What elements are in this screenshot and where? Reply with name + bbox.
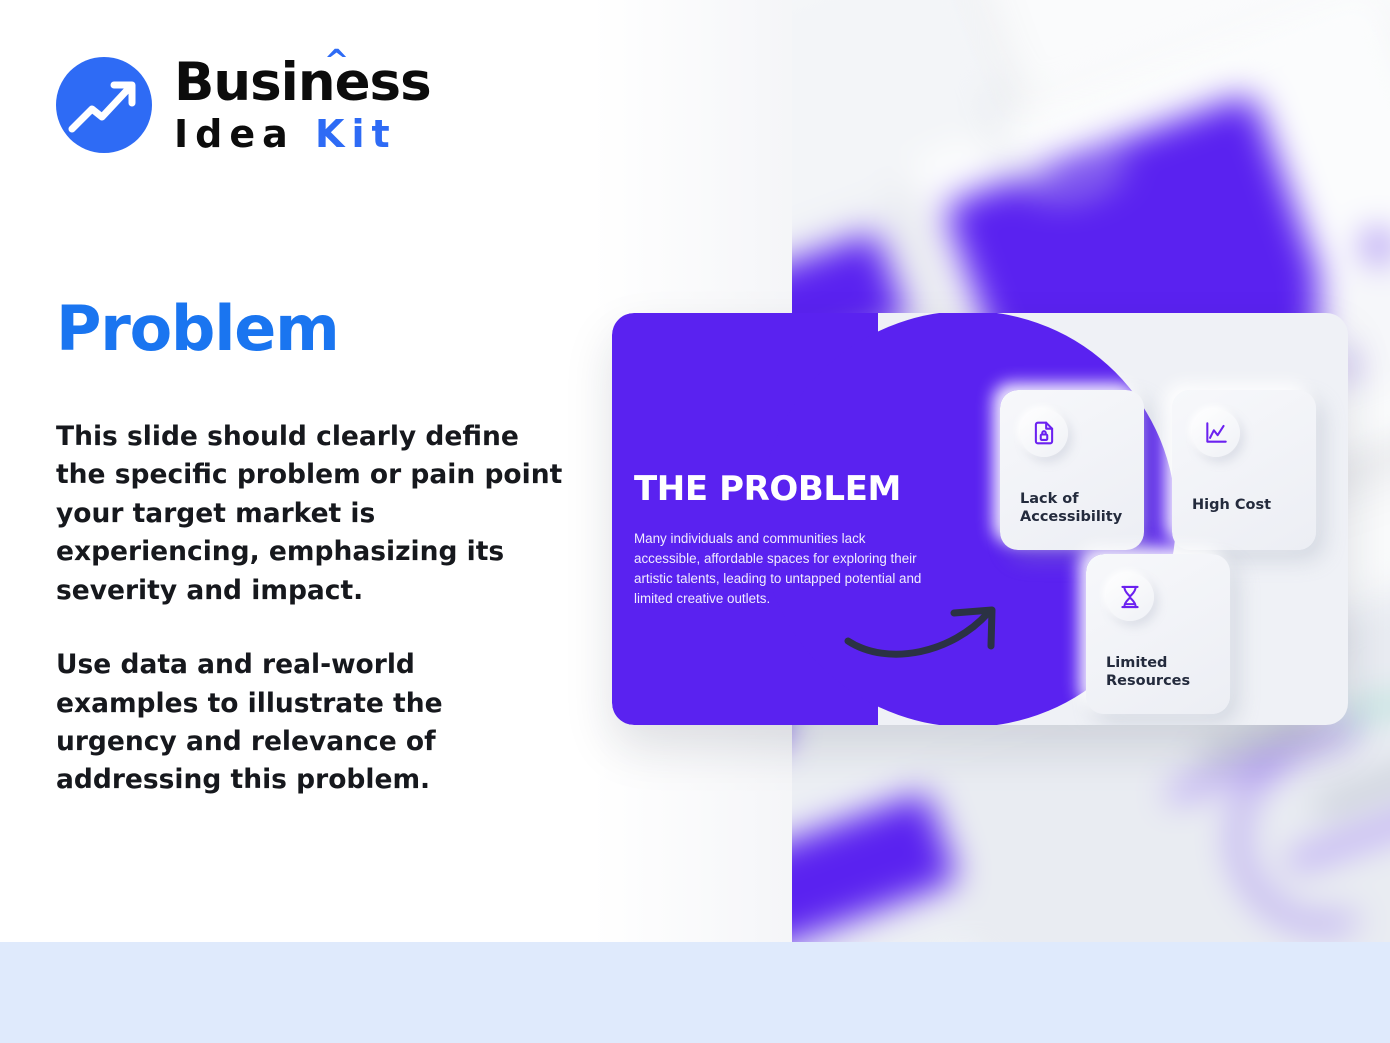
slide-template-preview-page: Business ^ Idea Kit Problem This slide s… [0, 0, 1390, 1043]
brand-logo[interactable]: Business ^ Idea Kit [56, 56, 431, 153]
feature-card-label: Lack of Accessibility [1020, 490, 1132, 526]
brand-name-bottom: Idea Kit [174, 115, 431, 153]
brand-wordmark: Business ^ Idea Kit [174, 56, 431, 153]
growth-arrow-chart-icon [56, 57, 152, 153]
brand-name-top-text: Business [174, 52, 431, 113]
feature-card-lack-of-accessibility[interactable]: Lack of Accessibility [1000, 390, 1144, 550]
description-block: This slide should clearly define the spe… [56, 418, 566, 800]
feature-card-label: Limited Resources [1106, 654, 1218, 690]
circumflex-accent-icon: ^ [324, 47, 348, 77]
hourglass-icon [1106, 573, 1154, 621]
page-title: Problem [56, 292, 339, 365]
feature-card-high-cost[interactable]: High Cost [1172, 390, 1316, 550]
purple-panel-content: THE PROBLEM Many individuals and communi… [612, 313, 942, 725]
document-lock-icon [1020, 409, 1068, 457]
bottom-accent-bar [0, 942, 1390, 1043]
feature-card-limited-resources[interactable]: Limited Resources [1086, 554, 1230, 714]
description-paragraph-2: Use data and real-world examples to illu… [56, 646, 566, 800]
bg-dot [1362, 230, 1390, 262]
line-chart-icon [1192, 409, 1240, 457]
brand-name-idea: Idea [174, 112, 295, 156]
slide-preview-card[interactable]: THE PROBLEM Many individuals and communi… [612, 313, 1348, 725]
feature-card-label: High Cost [1192, 496, 1304, 514]
description-paragraph-1: This slide should clearly define the spe… [56, 418, 566, 610]
brand-name-kit: Kit [315, 112, 397, 156]
slide-title: THE PROBLEM [634, 469, 934, 509]
curved-arrow-icon [842, 593, 1012, 663]
brand-name-top: Business ^ [174, 56, 431, 109]
